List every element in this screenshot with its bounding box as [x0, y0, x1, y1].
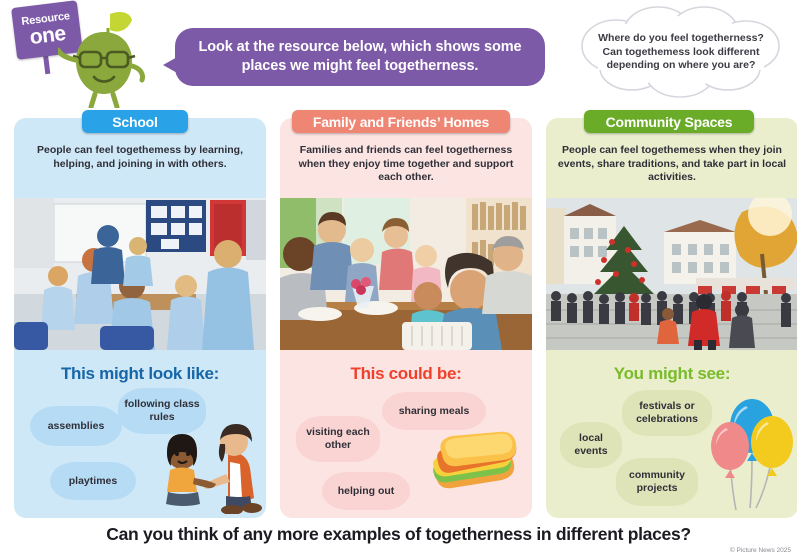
page-header: Resource one	[0, 0, 797, 108]
column-school-tag-title: This might look like:	[14, 364, 266, 384]
balloons-illustration	[702, 398, 794, 518]
column-home: Families and friends can feel togetherne…	[280, 118, 532, 518]
column-school: People can feel togethemess by learning,…	[14, 118, 266, 518]
badge-community: Community Spaces	[584, 110, 754, 133]
tag-local-events: local events	[560, 422, 622, 468]
speech-bubble-text: Look at the resource below, which shows …	[175, 38, 545, 76]
badge-school: School	[82, 110, 188, 133]
column-community-tag-title: You might see:	[546, 364, 797, 384]
tag-helping-out: helping out	[322, 472, 410, 510]
thought-bubble-line-2: Can togethemess look different	[570, 46, 792, 60]
tag-visiting-each-other: visiting each other	[296, 416, 380, 462]
family-meal-photo	[280, 198, 532, 350]
tag-community-projects: community projects	[616, 458, 698, 506]
apple-mascot-icon	[58, 8, 150, 108]
tag-playtimes: playtimes	[50, 462, 136, 500]
speech-bubble: Look at the resource below, which shows …	[175, 28, 545, 86]
column-community-intro: People can feel togethemess when they jo…	[554, 144, 790, 185]
sandwich-illustration	[428, 430, 524, 509]
town-square-photo	[546, 198, 797, 350]
column-home-intro: Families and friends can feel togetherne…	[288, 144, 524, 185]
tag-sharing-meals: sharing meals	[382, 392, 486, 430]
tag-assemblies: assemblies	[30, 406, 122, 446]
badge-community-label: Community Spaces	[606, 114, 733, 130]
thought-bubble-line-1: Where do you feel togetherness?	[570, 32, 792, 46]
column-home-tag-title: This could be:	[280, 364, 532, 384]
resource-page: Resource one	[0, 0, 797, 560]
copyright-notice: © Picture News 2025	[730, 547, 791, 554]
thought-bubble-text: Where do you feel togetherness? Can toge…	[570, 32, 792, 73]
badge-home-label: Family and Friends’ Homes	[313, 114, 489, 130]
footer-question: Can you think of any more examples of to…	[0, 524, 797, 545]
column-community: People can feel togethemess when they jo…	[546, 118, 797, 518]
badge-home: Family and Friends’ Homes	[292, 110, 510, 133]
classroom-photo	[14, 198, 266, 350]
tag-festivals-or-celebrations: festivals or celebrations	[622, 390, 712, 436]
badge-school-label: School	[112, 114, 157, 130]
teacher-and-child-illustration	[142, 414, 262, 518]
thought-bubble-line-3: depending on where you are?	[570, 59, 792, 73]
column-school-intro: People can feel togethemess by learning,…	[22, 144, 258, 171]
thought-bubble: Where do you feel togetherness? Can toge…	[570, 6, 792, 102]
